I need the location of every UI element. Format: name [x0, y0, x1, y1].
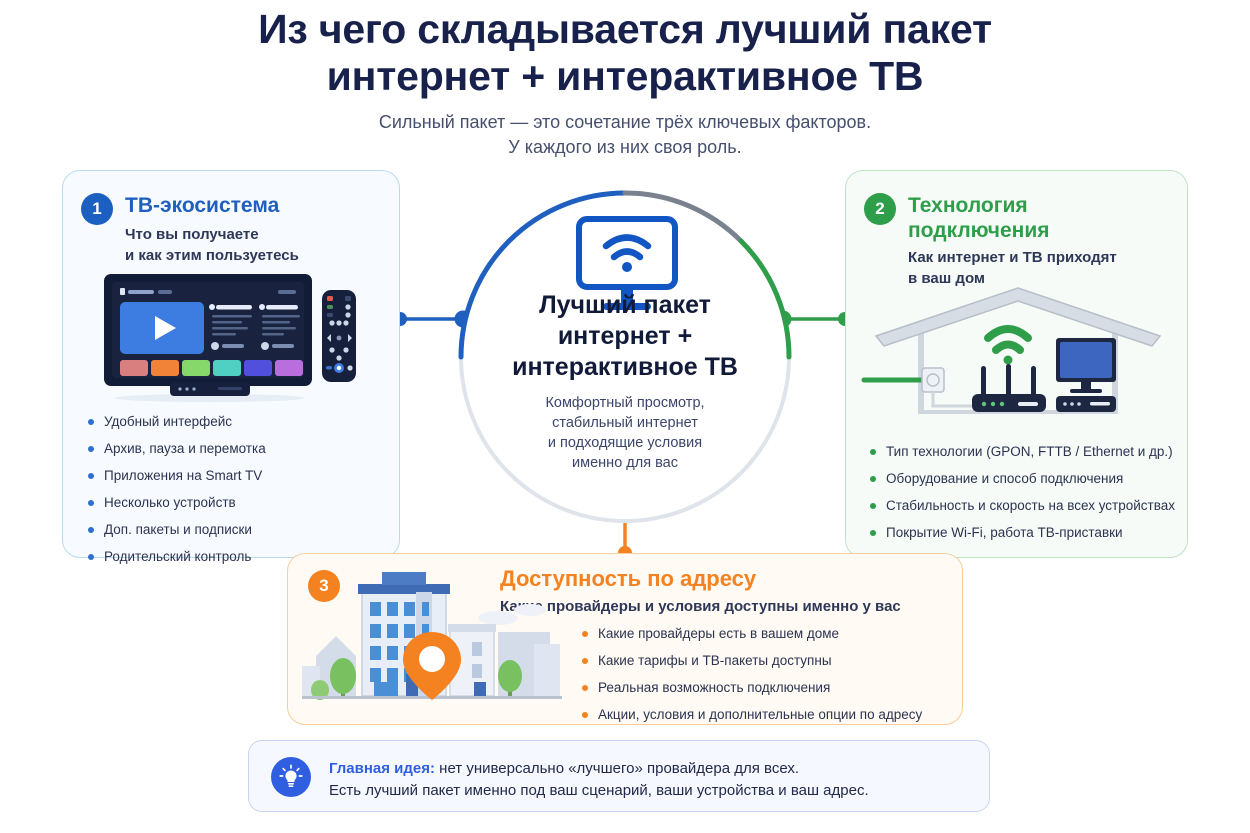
list-item: Какие провайдеры есть в вашем доме	[580, 626, 922, 642]
home-tv	[1056, 338, 1116, 393]
center-description-line-2: стабильный интернет	[470, 413, 780, 433]
center-description-line-3: и подходящие условия	[470, 433, 780, 453]
card-2-title: Технология подключения	[908, 193, 1098, 243]
wifi-router	[972, 364, 1046, 412]
tv-tile-6	[275, 360, 303, 376]
key-idea-text: Главная идея: нет универсально «лучшего»…	[329, 758, 869, 802]
center-title-line-2: интернет +	[470, 321, 780, 352]
list-item: Покрытие Wi-Fi, работа ТВ-приставки	[868, 525, 1175, 541]
home-set-top-box	[1056, 396, 1116, 412]
list-item: Стабильность и скорость на всех устройст…	[868, 498, 1175, 514]
building-cornice	[358, 584, 450, 594]
list-item: Несколько устройств	[86, 495, 266, 511]
card-1-title: ТВ-экосистема	[125, 193, 279, 218]
center-text-block: Лучший пакет интернет + интерактивное ТВ…	[470, 290, 780, 473]
list-item: Доп. пакеты и подписки	[86, 522, 266, 538]
list-item: Родительский контроль	[86, 549, 266, 565]
center-description-line-1: Комфортный просмотр,	[470, 393, 780, 413]
building-roof-block	[382, 572, 426, 585]
card-1-subtitle-line-2: и как этим пользуетесь	[125, 245, 299, 266]
list-item: Тип технологии (GPON, FTTB / Ethernet и …	[868, 444, 1175, 460]
center-title-line-1: Лучший пакет	[470, 290, 780, 321]
card-2-title-line-1: Технология	[908, 193, 1098, 218]
center-title-line-3: интерактивное ТВ	[470, 352, 780, 383]
tv-tile-1	[120, 360, 148, 376]
card-1-subtitle-line-1: Что вы получаете	[125, 224, 299, 245]
list-item: Оборудование и способ подключения	[868, 471, 1175, 487]
card-2-subtitle: Как интернет и ТВ приходят в ваш дом	[908, 247, 1148, 289]
card-1-number-badge: 1	[81, 193, 113, 225]
card-1-bullet-list: Удобный интерфейс Архив, пауза и перемот…	[86, 414, 266, 576]
key-idea-banner: Главная идея: нет универсально «лучшего»…	[248, 740, 990, 812]
list-item: Архив, пауза и перемотка	[86, 441, 266, 457]
card-2-subtitle-line-1: Как интернет и ТВ приходят	[908, 247, 1148, 268]
wall-socket	[922, 368, 944, 392]
lightbulb-icon	[271, 757, 311, 797]
list-item: Удобный интерфейс	[86, 414, 266, 430]
card-2-number-badge: 2	[864, 193, 896, 225]
list-item: Какие тарифы и ТВ-пакеты доступны	[580, 653, 922, 669]
city-building-map-pin-illustration	[302, 570, 562, 710]
house-router-tv-illustration	[860, 284, 1176, 418]
tv-tile-4	[213, 360, 241, 376]
list-item: Приложения на Smart TV	[86, 468, 266, 484]
key-idea-line-1: Главная идея: нет универсально «лучшего»…	[329, 758, 869, 780]
center-description-line-4: именно для вас	[470, 453, 780, 473]
wifi-icon	[988, 329, 1028, 365]
key-idea-rest: нет универсально «лучшего» провайдера дл…	[435, 760, 799, 777]
center-description: Комфортный просмотр, стабильный интернет…	[470, 393, 780, 473]
tv-tile-2	[151, 360, 179, 376]
list-item: Реальная возможность подключения	[580, 680, 922, 696]
building-entrance	[374, 682, 398, 696]
tv-tile-3	[182, 360, 210, 376]
card-1-subtitle: Что вы получаете и как этим пользуетесь	[125, 224, 299, 266]
key-idea-line-2: Есть лучший пакет именно под ваш сценари…	[329, 780, 869, 802]
card-3-bullet-list: Какие провайдеры есть в вашем доме Какие…	[580, 626, 922, 734]
card-2-title-line-2: подключения	[908, 218, 1098, 243]
smart-tv-remote-illustration	[100, 272, 362, 404]
tv-tile-5	[244, 360, 272, 376]
key-idea-lead: Главная идея:	[329, 760, 435, 777]
card-2-bullet-list: Тип технологии (GPON, FTTB / Ethernet и …	[868, 444, 1175, 552]
list-item: Акции, условия и дополнительные опции по…	[580, 707, 922, 723]
